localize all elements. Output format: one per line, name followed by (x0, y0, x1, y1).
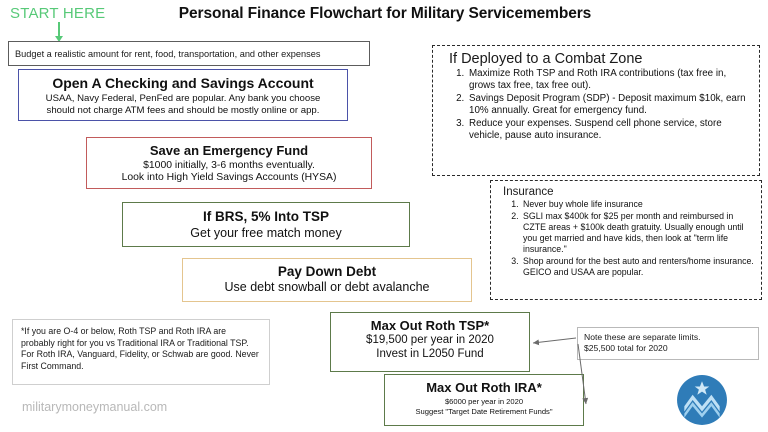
emergency-fund-line2: Look into High Yield Savings Accounts (H… (93, 172, 365, 184)
insurance-panel-heading: Insurance (503, 186, 755, 198)
max-roth-ira-step-box[interactable]: Max Out Roth IRA* $6000 per year in 2020… (384, 374, 584, 426)
checking-savings-step-box[interactable]: Open A Checking and Savings Account USAA… (18, 69, 348, 121)
max-roth-tsp-step-box[interactable]: Max Out Roth TSP* $19,500 per year in 20… (330, 312, 530, 372)
list-item: Shop around for the best auto and renter… (521, 256, 755, 278)
max-roth-ira-line2: Suggest "Target Date Retirement Funds" (389, 407, 579, 417)
page-title: Personal Finance Flowchart for Military … (140, 5, 630, 23)
deployed-panel-heading: If Deployed to a Combat Zone (449, 51, 751, 67)
max-roth-tsp-line2: Invest in L2050 Fund (335, 348, 525, 362)
pay-down-debt-step-box[interactable]: Pay Down Debt Use debt snowball or debt … (182, 258, 472, 302)
max-roth-tsp-line1: $19,500 per year in 2020 (335, 334, 525, 348)
separate-limits-note-line1: Note these are separate limits. (584, 332, 752, 343)
flowchart-canvas: START HERE Personal Finance Flowchart fo… (0, 0, 768, 432)
roth-footnote-text: *If you are O-4 or below, Roth TSP and R… (21, 326, 259, 371)
list-item: Never buy whole life insurance (521, 199, 755, 210)
emergency-fund-line1: $1000 initially, 3-6 months eventually. (93, 160, 365, 172)
emergency-fund-step-box[interactable]: Save an Emergency Fund $1000 initially, … (86, 137, 372, 189)
max-roth-ira-line1: $6000 per year in 2020 (389, 397, 579, 407)
max-roth-tsp-title: Max Out Roth TSP* (335, 318, 525, 333)
deployed-combat-zone-panel[interactable]: If Deployed to a Combat Zone Maximize Ro… (432, 45, 760, 176)
roth-footnote-box: *If you are O-4 or below, Roth TSP and R… (12, 319, 270, 385)
separate-limits-note-box: Note these are separate limits. $25,500 … (577, 327, 759, 360)
start-here-label: START HERE (10, 5, 105, 22)
site-watermark: militarymoneymanual.com (22, 400, 167, 414)
military-money-manual-logo-icon (676, 374, 728, 426)
emergency-fund-title: Save an Emergency Fund (93, 143, 365, 158)
checking-savings-line2: should not charge ATM fees and should be… (25, 105, 341, 117)
checking-savings-title: Open A Checking and Savings Account (25, 75, 341, 91)
brs-tsp-title: If BRS, 5% Into TSP (129, 209, 403, 224)
brs-tsp-step-box[interactable]: If BRS, 5% Into TSP Get your free match … (122, 202, 410, 247)
list-item: SGLI max $400k for $25 per month and rei… (521, 211, 755, 256)
checking-savings-line1: USAA, Navy Federal, PenFed are popular. … (25, 93, 341, 105)
arrow-note-to-roth-tsp (533, 338, 576, 343)
budget-step-box[interactable]: Budget a realistic amount for rent, food… (8, 41, 370, 66)
list-item: Reduce your expenses. Suspend cell phone… (467, 118, 751, 142)
max-roth-ira-title: Max Out Roth IRA* (389, 380, 579, 395)
start-arrow-icon (58, 22, 60, 40)
budget-step-text: Budget a realistic amount for rent, food… (15, 49, 320, 59)
insurance-panel-list: Never buy whole life insurance SGLI max … (501, 199, 755, 278)
pay-down-debt-title: Pay Down Debt (189, 264, 465, 279)
separate-limits-note-line2: $25,500 total for 2020 (584, 343, 752, 354)
insurance-panel[interactable]: Insurance Never buy whole life insurance… (490, 180, 762, 300)
deployed-panel-list: Maximize Roth TSP and Roth IRA contribut… (443, 68, 751, 142)
pay-down-debt-line1: Use debt snowball or debt avalanche (189, 280, 465, 294)
list-item: Maximize Roth TSP and Roth IRA contribut… (467, 68, 751, 92)
brs-tsp-line1: Get your free match money (129, 226, 403, 240)
list-item: Savings Deposit Program (SDP) - Deposit … (467, 93, 751, 117)
